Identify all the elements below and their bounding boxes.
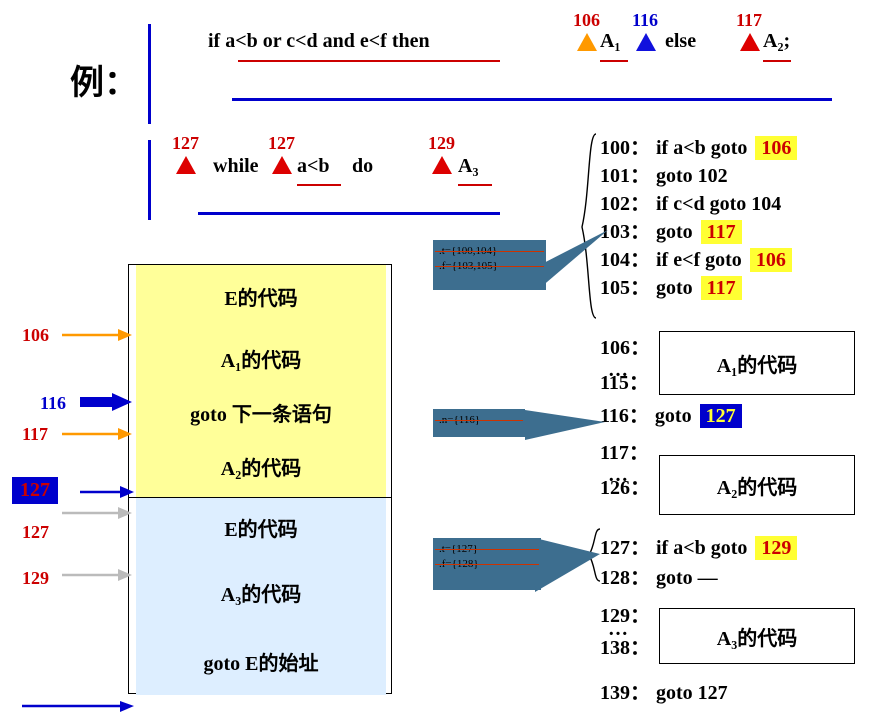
code-line: 103：goto117 [600, 215, 742, 244]
code-line-target: 117 [701, 220, 742, 244]
code-line: 128：goto — [600, 561, 718, 590]
marker-num-106: 106 [573, 10, 600, 31]
left-arrow-117 [62, 425, 134, 443]
left-panel-row: A₁的代码 [136, 327, 386, 389]
code-line: 104：if e<f goto106 [600, 243, 792, 272]
source-else-text: else [665, 30, 696, 53]
page-title: 例： [70, 55, 138, 104]
source-a1-label: A₁ [600, 30, 620, 53]
source-do-text: do [352, 155, 373, 178]
code-box-a3-label: A₃的代码 [660, 609, 854, 663]
code-line-text: goto 127 [656, 682, 728, 704]
code-line-text: if e<f goto [656, 249, 742, 271]
left-marker-127-value: 127 [20, 479, 50, 501]
source-cond-text: a<b [297, 155, 330, 178]
slide-canvas: 例： if a<b or c<d and e<f then 106 A₁ 116… [0, 0, 877, 719]
code-box-a2-label: A₂的代码 [660, 456, 854, 514]
left-arrow-127-gray [62, 504, 134, 522]
code-ellipsis: … [608, 618, 628, 641]
code-ellipsis: … [608, 359, 628, 382]
source-a3-label: A₃ [458, 155, 478, 178]
code-line: 106： [600, 331, 650, 360]
code-line-target: 129 [755, 536, 797, 560]
code-box-a1: A₁的代码 [659, 331, 855, 395]
a2-underline [763, 60, 791, 62]
left-panel-row: goto E的始址 [136, 627, 386, 695]
source-bracket-bar [148, 24, 151, 124]
triangle-orange-icon [577, 33, 597, 51]
code-line-text: if c<d goto 104 [656, 193, 781, 215]
source-bracket-bar-2 [148, 140, 151, 220]
callout-2: .n={116} [433, 409, 525, 437]
code-line: 101：goto 102 [600, 159, 728, 188]
marker2-num-127-b: 127 [268, 133, 295, 154]
left-panel-row: E的代码 [136, 497, 386, 557]
code-line-number: 139： [600, 682, 650, 704]
left-code-layout-panel: E的代码A₁的代码goto 下一条语句A₂的代码E的代码A₃的代码goto E的… [128, 264, 392, 694]
code-line-number: 102： [600, 193, 650, 215]
source-line1-underline-blue [232, 98, 832, 101]
source-line1-underline-red [238, 60, 500, 62]
code-line: 100：if a<b goto106 [600, 131, 797, 160]
triangle-red-icon-3 [272, 156, 292, 174]
code-line-target: 117 [701, 276, 742, 300]
left-marker-129: 129 [22, 568, 49, 589]
left-panel-divider [129, 497, 391, 498]
code-line: 102：if c<d goto 104 [600, 187, 781, 216]
code-line: 139：goto 127 [600, 676, 728, 705]
marker2-num-127-a: 127 [172, 133, 199, 154]
triangle-blue-icon [636, 33, 656, 51]
a3-underline [458, 184, 492, 186]
left-panel-row: A₃的代码 [136, 557, 386, 627]
callout-3-line-2: .f={128} [439, 557, 535, 572]
triangle-red-icon-4 [432, 156, 452, 174]
code-box-a3: A₃的代码 [659, 608, 855, 664]
callout-1: .t={100,104} .f={103,105} [433, 240, 546, 290]
callout-3: .t={127} .f={128} [433, 538, 541, 590]
callout-2-line-1: .n={116} [439, 413, 519, 428]
source-line1-text: if a<b or c<d and e<f then [208, 30, 430, 53]
code-line-number: 106： [600, 337, 650, 359]
source-line2-underline-blue [198, 212, 500, 215]
left-panel-row: goto 下一条语句 [136, 389, 386, 435]
left-marker-127-b: 127 [22, 522, 49, 543]
code-line-text: if a<b goto [656, 537, 747, 559]
left-marker-127-highlight: 127 [12, 477, 58, 504]
code-box-a1-label: A₁的代码 [660, 332, 854, 394]
marker-num-116: 116 [632, 10, 658, 31]
code-line-target: 127 [700, 404, 742, 428]
code-line-number: 100： [600, 137, 650, 159]
callout-3-line-1: .t={127} [439, 542, 535, 557]
code-line-text: goto — [656, 567, 718, 589]
code-line-target: 106 [755, 136, 797, 160]
triangle-red-icon-2 [176, 156, 196, 174]
cond-underline [297, 184, 341, 186]
code-line-target: 106 [750, 248, 792, 272]
left-marker-106: 106 [22, 325, 49, 346]
code-line-text: goto [656, 221, 693, 243]
left-arrow-116 [80, 392, 136, 414]
code-line: 127：if a<b goto129 [600, 531, 797, 560]
code-line-text: if a<b goto [656, 137, 747, 159]
code-line-number: 101： [600, 165, 650, 187]
code-line-text: goto [655, 405, 692, 427]
triangle-red-icon-1 [740, 33, 760, 51]
code-line: 105：goto117 [600, 271, 742, 300]
code-box-a2: A₂的代码 [659, 455, 855, 515]
left-arrow-106 [62, 326, 134, 344]
a1-underline [600, 60, 628, 62]
callout-1-line-1: .t={100,104} [439, 244, 540, 259]
code-line-text: goto [656, 277, 693, 299]
marker-num-117: 117 [736, 10, 762, 31]
left-panel-row: A₂的代码 [136, 435, 386, 497]
source-a2-label: A₂; [763, 30, 790, 53]
left-arrow-127-a [80, 483, 136, 501]
code-line: 116：goto127 [600, 399, 742, 428]
code-line-text: goto 102 [656, 165, 728, 187]
left-marker-117: 117 [22, 424, 48, 445]
marker2-num-129: 129 [428, 133, 455, 154]
left-arrow-129-gray [62, 566, 134, 584]
source-while-text: while [213, 155, 259, 178]
left-marker-116: 116 [40, 393, 66, 414]
bottom-arrow [22, 700, 138, 714]
left-panel-row: E的代码 [136, 265, 386, 327]
code-ellipsis: … [608, 464, 628, 487]
callout-1-line-2: .f={103,105} [439, 259, 540, 274]
